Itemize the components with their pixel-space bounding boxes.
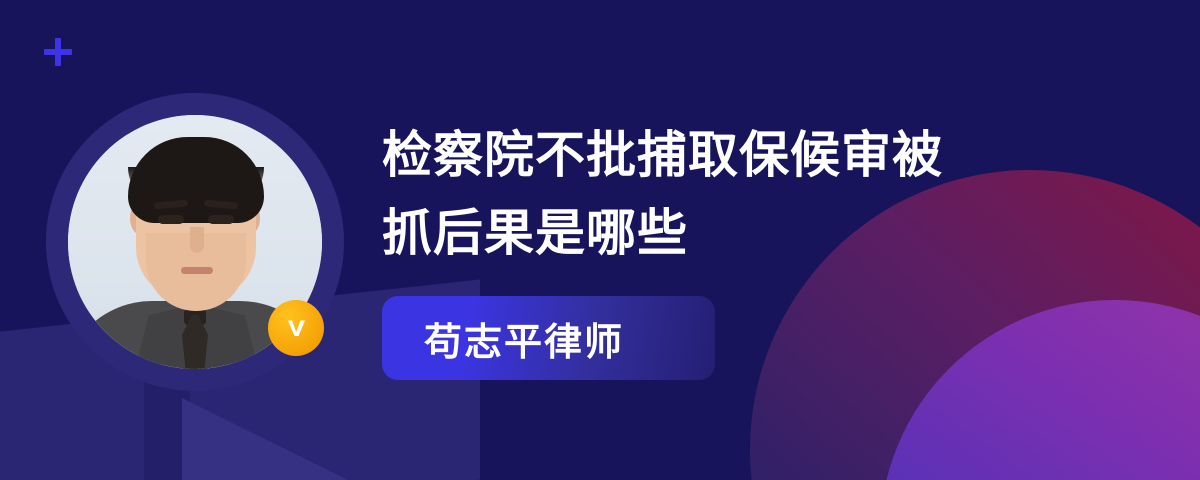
lawyer-qa-banner: 检察院不批捕取保候审被 抓后果是哪些 苟志平律师 xyxy=(0,0,1200,480)
portrait-mouth xyxy=(181,267,213,274)
decorative-triangle xyxy=(182,398,352,480)
content-column: 检察院不批捕取保候审被 抓后果是哪些 苟志平律师 xyxy=(382,116,1082,380)
portrait-eye-left xyxy=(158,215,184,224)
portrait-eye-right xyxy=(208,215,234,224)
page-title: 检察院不批捕取保候审被 抓后果是哪些 xyxy=(382,116,1042,272)
avatar xyxy=(46,93,344,391)
portrait-nose xyxy=(190,227,204,253)
verified-badge-icon xyxy=(268,300,324,356)
author-button[interactable]: 苟志平律师 xyxy=(382,296,715,380)
portrait-hair-shadow xyxy=(128,167,264,207)
plus-icon xyxy=(44,38,72,66)
